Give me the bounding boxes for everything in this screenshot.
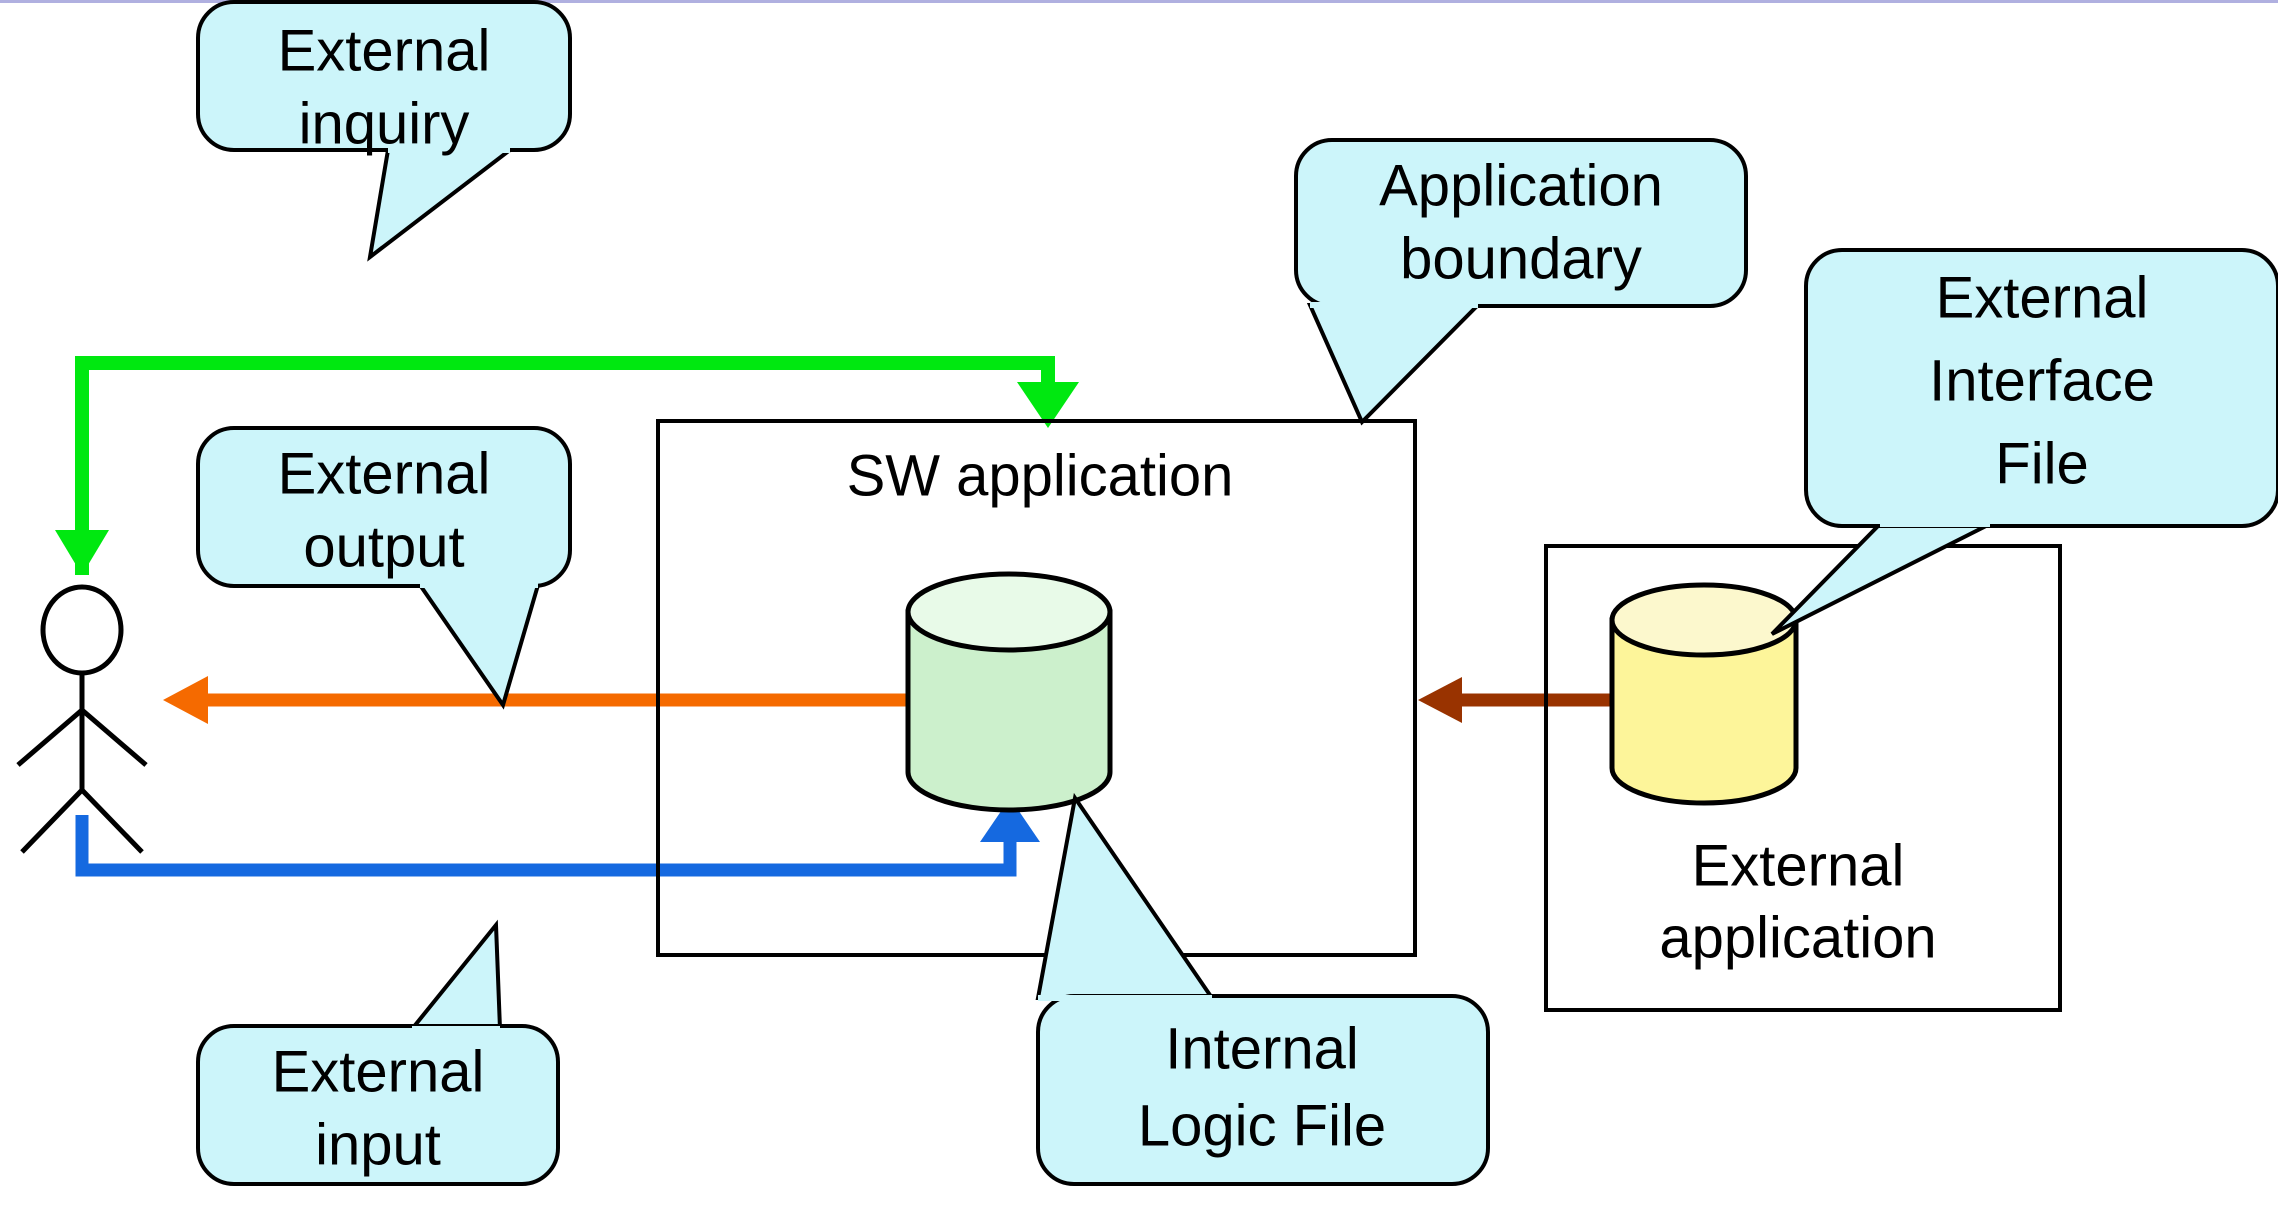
function-point-diagram: SW application External application	[0, 0, 2278, 1206]
callout-external-output-line1: External	[278, 441, 491, 506]
callout-internal-logic-file[interactable]: Internal Logic File	[1038, 798, 1488, 1184]
callout-external-inquiry-line2: inquiry	[299, 91, 470, 156]
callout-external-interface-file-line1: External	[1936, 265, 2149, 330]
external-interface-file-cylinder	[1612, 585, 1796, 803]
callout-external-input-line2: input	[315, 1112, 441, 1177]
callout-application-boundary-line1: Application	[1379, 153, 1663, 218]
external-output-arrow	[163, 676, 906, 724]
callout-external-interface-file[interactable]: External Interface File	[1772, 250, 2278, 634]
callout-external-input[interactable]: External input	[198, 925, 558, 1184]
sw-application-label: SW application	[847, 443, 1234, 508]
internal-logic-file-cylinder	[908, 574, 1110, 810]
callout-external-interface-file-line2: Interface	[1929, 348, 2155, 413]
external-application-label-line1: External	[1692, 833, 1905, 898]
callout-external-inquiry-line1: External	[278, 18, 491, 83]
callout-external-output-line2: output	[303, 514, 464, 579]
callout-application-boundary-line2: boundary	[1400, 226, 1642, 291]
callout-internal-logic-file-line1: Internal	[1165, 1016, 1358, 1081]
callout-internal-logic-file-line2: Logic File	[1138, 1093, 1386, 1158]
external-application-label-line2: application	[1659, 905, 1936, 970]
callout-external-inquiry[interactable]: External inquiry	[198, 2, 570, 257]
user-stick-figure	[18, 587, 146, 852]
callout-external-interface-file-line3: File	[1995, 431, 2088, 496]
callout-application-boundary[interactable]: Application boundary	[1296, 140, 1746, 422]
external-input-arrow	[82, 798, 1040, 870]
external-interface-file-arrow	[1418, 677, 1612, 723]
callout-external-output[interactable]: External output	[198, 428, 570, 705]
callout-external-input-line1: External	[272, 1039, 485, 1104]
diagram-canvas: SW application External application	[0, 0, 2278, 1206]
